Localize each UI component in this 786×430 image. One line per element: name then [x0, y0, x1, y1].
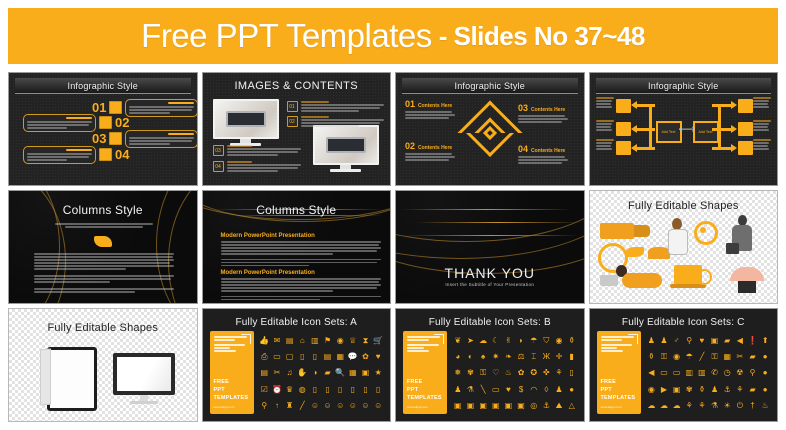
cloud-icon: ☁ — [647, 402, 655, 410]
exclamation-icon: ❗ — [748, 337, 758, 345]
monitor-icon — [99, 148, 112, 161]
header-banner: Free PPT Templates - Slides No 37~48 — [8, 8, 778, 64]
dot-icon: ● — [763, 369, 768, 377]
slide-9-canvas: Fully Editable Shapes — [9, 309, 197, 421]
drop-icon: ◗ — [519, 337, 524, 345]
usb-cap-icon — [634, 225, 650, 237]
gem-icon: ◊ — [544, 386, 548, 394]
wave-icon: ◠ — [530, 386, 537, 394]
sun-icon: ☀ — [724, 402, 731, 410]
person-icon: ♟ — [711, 386, 718, 394]
smiley-icon: ☺ — [349, 402, 357, 410]
slide-4-text-r3 — [753, 139, 771, 150]
slide-4-text-r1 — [753, 97, 771, 108]
flask-icon: ⚗ — [467, 386, 474, 394]
feather-icon: ➤ — [467, 337, 474, 345]
slide-1-item-02: 02 — [23, 114, 129, 132]
slide-8-canvas: Fully Editable Shapes — [590, 191, 778, 303]
dollar-icon: $ — [519, 386, 523, 394]
slide-thumbnail-12[interactable]: Fully Editable Icon Sets: C FREE PPT TEM… — [589, 308, 779, 422]
slide-3-title: Infographic Style — [455, 81, 525, 91]
slide-1-item-04: 04 — [23, 146, 129, 164]
slide-4-titlebar: Infographic Style — [596, 78, 772, 94]
pen-icon: ╱ — [300, 402, 305, 410]
battery-icon: ▭ — [660, 369, 668, 377]
slide-thumbnail-10[interactable]: Fully Editable Icon Sets: A FREE PPT TEM… — [202, 308, 392, 422]
card-icon: ╲ — [481, 386, 486, 394]
speech-bubble-icon: ▢ — [286, 353, 294, 361]
smiley-icon: ☺ — [311, 402, 319, 410]
pin-icon: ♟ — [454, 386, 461, 394]
gear-icon — [109, 132, 122, 145]
slide-3-item-03: 03 Contents Here — [518, 104, 570, 123]
award-icon: ♛ — [286, 386, 293, 394]
dagger-icon: † — [750, 402, 754, 410]
slide-3-canvas: Infographic Style 01 Contents Here — [396, 73, 584, 185]
lock-icon: ⚿ — [712, 353, 718, 361]
tree-icon: ⚘ — [555, 369, 562, 377]
slide-1-number-02: 02 — [115, 116, 129, 129]
desktop-monitor-mockup — [113, 353, 175, 404]
tag-icon: 03 — [213, 145, 224, 156]
paw-icon: ◐ — [468, 353, 473, 361]
slide-2-tag-03: 03 — [213, 145, 301, 156]
bird-icon: ✾ — [467, 369, 474, 377]
heart-icon: ♡ — [492, 369, 499, 377]
tablet-side-mockup — [40, 349, 51, 406]
slide-1-titlebar: Infographic Style — [15, 78, 191, 94]
star-icon: ★ — [375, 369, 382, 377]
megaphone-icon: ◀ — [737, 337, 743, 345]
hub-left-label: Add Text — [662, 130, 676, 135]
camera-icon: ▣ — [711, 337, 719, 345]
boar-icon: ▰ — [749, 386, 755, 394]
slide-6-heading-2: Modern PowerPoint Presentation — [221, 270, 381, 276]
window-icon: ▣ — [362, 369, 370, 377]
sun-icon: ✷ — [492, 353, 499, 361]
phone-icon: ✆ — [711, 369, 718, 377]
paint-drop-icon: ◍ — [299, 386, 306, 394]
eye-icon: ◉ — [556, 337, 563, 345]
laptop-icon: ▭ — [273, 353, 281, 361]
slide-3-number-04: 04 — [518, 145, 528, 154]
folder-icon — [99, 116, 112, 129]
image-icon: ▣ — [673, 386, 681, 394]
slide-4-text-l2 — [596, 120, 614, 131]
heart-icon: ▭ — [492, 386, 500, 394]
cursor-icon — [738, 141, 753, 155]
tablet-device-mockup — [47, 347, 97, 411]
chart-icon: ▥ — [311, 337, 319, 345]
hub-right-label: Add Text — [699, 130, 713, 135]
leaf-icon: ❦ — [454, 337, 461, 345]
dot-icon: ● — [569, 386, 574, 394]
anchor-icon: ⚓ — [543, 402, 550, 410]
smiley-icon: ☺ — [374, 402, 382, 410]
tablet-icon: ▯ — [300, 353, 304, 361]
balloon-icon: ◕ — [455, 353, 460, 361]
anchor-icon: ⚓ — [724, 386, 731, 394]
icon-grid-b: ❦ ➤ ☁ ☾ ✌ ◗ ☂ ⛉ ◉ ⚱ ◕ ◐ ♠ ✷ ❧ ⚖ ⌶ — [452, 333, 578, 414]
magnifier-icon — [696, 269, 712, 285]
smiley-icon: ☺ — [323, 402, 331, 410]
slide-3-label-04: Contents Here — [531, 148, 565, 154]
radiation-icon: ☢ — [736, 369, 743, 377]
slide-4-text-r2 — [753, 120, 771, 131]
diamond-maze-graphic — [457, 101, 522, 166]
person-body-icon — [668, 229, 688, 255]
slide-3-item-02: 02 Contents Here — [405, 142, 457, 161]
banner-subtitle: - Slides No 37~48 — [439, 21, 645, 52]
snowflake-icon: ❅ — [454, 369, 461, 377]
double-arrow-icon: ⟷ — [679, 122, 696, 136]
smiley-icon: ☺ — [336, 402, 344, 410]
tag-icon: 01 — [287, 101, 298, 112]
key-icon: ⚲ — [261, 402, 267, 410]
checkbox-icon: ☑ — [261, 386, 268, 394]
free-ppt-card-a: FREE PPT TEMPLATES www.allppt.com — [210, 331, 254, 414]
cart-icon — [616, 122, 631, 136]
search-icon: 🔍 — [335, 369, 345, 377]
spoon-icon: ⌶ — [531, 353, 536, 361]
slide-4-title: Infographic Style — [648, 81, 718, 91]
slide-8-title: Fully Editable Shapes — [590, 200, 778, 212]
triangle-icon: △ — [569, 402, 575, 410]
slide-1-item-03: 03 — [92, 130, 198, 148]
pencil-icon: ╱ — [700, 353, 705, 361]
slide-3-number-03: 03 — [518, 104, 528, 113]
document-icon: ▯ — [363, 386, 367, 394]
slide-6-section-2: Modern PowerPoint Presentation — [221, 270, 381, 300]
medal-icon: ✿ — [362, 353, 369, 361]
cloud-icon: ☁ — [673, 402, 681, 410]
person-icon: ♟ — [648, 337, 655, 345]
slide-thumbnail-11[interactable]: Fully Editable Icon Sets: B FREE PPT TEM… — [395, 308, 585, 422]
slide-3-label-01: Contents Here — [418, 103, 452, 109]
person-icon: ♟ — [660, 337, 667, 345]
lock-icon: ⚿ — [661, 353, 667, 361]
at-sign-icon: ◎ — [530, 402, 537, 410]
corner-decoration-icon — [434, 334, 444, 344]
slide-3-number-01: 01 — [405, 100, 415, 109]
slides-preview-page: Free PPT Templates - Slides No 37~48 Inf… — [0, 0, 786, 430]
lock-icon: ⚿ — [480, 369, 486, 377]
shield-icon: ⛉ — [543, 337, 549, 345]
slide-7-subtitle: Insert the Subtitle of Your Presentation — [396, 282, 584, 287]
slide-3-item-04: 04 Contents Here — [518, 145, 570, 164]
slide-thumbnail-2[interactable]: IMAGES & CONTENTS 01 02 — [202, 72, 392, 186]
shopping-cart-icon: 🛒 — [373, 337, 383, 345]
globe-icon: ◉ — [337, 337, 344, 345]
fire-icon: ♨ — [505, 369, 512, 377]
document-icon: ▯ — [376, 386, 380, 394]
document-icon: ▯ — [351, 386, 355, 394]
corner-decoration-icon — [241, 334, 251, 344]
card-title-b: FREE PPT TEMPLATES www.allppt.com — [407, 379, 443, 409]
plant-icon: ⚘ — [698, 402, 705, 410]
slide-thumbnail-1[interactable]: Infographic Style 01 03 — [8, 72, 198, 186]
handshake-arch-icon — [730, 267, 764, 281]
slide-4-canvas: Infographic Style Add Text Add Text ⟷ — [590, 73, 778, 185]
slide-9-title: Fully Editable Shapes — [9, 322, 197, 334]
gear-icon: ✿ — [518, 369, 525, 377]
target-dartboard-icon — [694, 221, 718, 245]
smiley-icon: ☺ — [361, 402, 369, 410]
hand-icon: ✋ — [297, 369, 307, 377]
cart-icon — [738, 122, 753, 136]
trophy-icon: ♕ — [349, 337, 356, 345]
person-icon: ↑ — [275, 402, 279, 410]
slide-thumbnail-9[interactable]: Fully Editable Shapes — [8, 308, 198, 422]
slide-1-number-03: 03 — [92, 132, 106, 145]
woman-body-icon — [622, 273, 662, 288]
thermometer-icon: ⚱ — [699, 386, 706, 394]
laptop-base-icon — [670, 284, 706, 288]
slide-12-canvas: Fully Editable Icon Sets: C FREE PPT TEM… — [590, 309, 778, 421]
slide-7-canvas: THANK YOU Insert the Subtitle of Your Pr… — [396, 191, 584, 303]
battery-icon: ▮ — [569, 353, 573, 361]
dot-icon: ● — [763, 386, 768, 394]
printer-icon: ⎙ — [261, 353, 267, 361]
slide-10-canvas: Fully Editable Icon Sets: A FREE PPT TEM… — [203, 309, 391, 421]
hourglass-icon: ⧗ — [363, 337, 369, 345]
slide-10-title: Fully Editable Icon Sets: A — [203, 317, 391, 328]
pinterest-icon: ▣ — [467, 402, 475, 410]
cup-icon: ♜ — [286, 402, 293, 410]
scale-icon: ⚖ — [517, 353, 524, 361]
document-icon: ▯ — [338, 386, 342, 394]
basketball-icon: ◉ — [673, 353, 680, 361]
film-icon: ▥ — [685, 369, 693, 377]
mountain-icon: ⛰ — [556, 402, 563, 410]
document-icon: ▯ — [325, 386, 329, 394]
icon-grid-a: 👍 ✉ ▤ ⌂ ▥ ⚑ ◉ ♕ ⧗ 🛒 ⎙ ▭ ▢ ▯ ▯ ▤ ▦ — [259, 333, 385, 414]
flask-icon: ⚗ — [711, 402, 718, 410]
slide-1-number-04: 04 — [115, 148, 129, 161]
icon-grid-c: ♟ ♟ ♂ ⚲ ♥ ▣ ▰ ◀ ❗ ⬆ ⚱ ⚿ ◉ ☂ ╱ ⚿ ▦ — [646, 333, 772, 414]
slide-1-text-01 — [125, 99, 197, 117]
tag-icon: 02 — [287, 116, 298, 127]
slide-3-item-01: 01 Contents Here — [405, 100, 457, 119]
heart-icon: ♥ — [700, 337, 705, 345]
plant-icon: ⚘ — [736, 386, 743, 394]
cursor-icon — [616, 141, 631, 155]
plant-icon: ⚘ — [686, 402, 693, 410]
book-icon: ▤ — [261, 369, 269, 377]
slide-5-body — [34, 253, 174, 293]
moon-icon: ☾ — [492, 337, 499, 345]
gear-icon: ✾ — [686, 386, 693, 394]
chat-icon — [109, 101, 122, 114]
compass-icon: ✛ — [556, 353, 563, 361]
leaf-icon — [616, 99, 631, 113]
slide-5-canvas: Columns Style — [9, 191, 197, 303]
paper-fold-icon — [648, 247, 670, 259]
hub-right: Add Text — [693, 121, 719, 143]
slide-1-text-03 — [125, 130, 197, 148]
slide-11-title: Fully Editable Icon Sets: B — [396, 317, 584, 328]
umbrella-icon: ☂ — [530, 337, 537, 345]
slide-1-text-04 — [23, 146, 96, 164]
instagram-icon: ▣ — [454, 402, 462, 410]
slide-4-text-l1 — [596, 97, 614, 108]
slide-3-label-03: Contents Here — [531, 107, 565, 113]
male-symbol-icon: ♂ — [674, 337, 680, 345]
volume-icon: ◀ — [648, 369, 654, 377]
target-center-icon — [700, 227, 706, 233]
video-icon: ▣ — [505, 402, 513, 410]
scissors-icon: ✂ — [737, 353, 744, 361]
hand-icon: ✌ — [505, 337, 512, 345]
banner-title: Free PPT Templates — [141, 17, 432, 55]
card-title-c: FREE PPT TEMPLATES www.allppt.com — [601, 379, 637, 409]
grid-icon: ▦ — [349, 369, 357, 377]
slide-6-heading-1: Modern PowerPoint Presentation — [221, 233, 381, 239]
record-icon: ◉ — [648, 386, 655, 394]
slide-4-text-l3 — [596, 139, 614, 150]
cloud-icon: ☁ — [660, 402, 668, 410]
free-ppt-card-b: FREE PPT TEMPLATES www.allppt.com — [403, 331, 447, 414]
video-play-icon: ▶ — [661, 386, 667, 394]
slide-thumbnail-4[interactable]: Infographic Style Add Text Add Text ⟷ — [589, 72, 779, 186]
barcode-icon: ▥ — [698, 369, 706, 377]
slide-thumbnail-8[interactable]: Fully Editable Shapes — [589, 190, 779, 304]
briefcase-icon — [726, 243, 739, 254]
music-note-icon: ♫ — [287, 369, 293, 377]
phone-icon: ▯ — [313, 353, 317, 361]
messenger-icon: ▣ — [517, 402, 525, 410]
slide-5-subtitle — [55, 223, 153, 228]
facebook-icon: ▣ — [479, 402, 487, 410]
monitor-mockup-right — [313, 125, 379, 172]
battery-icon: ▭ — [673, 369, 681, 377]
slide-thumbnail-5[interactable]: Columns Style — [8, 190, 198, 304]
thumbs-up-icon: 👍 — [259, 337, 269, 345]
bell-icon: ▯ — [569, 369, 573, 377]
chat-icon: 💬 — [348, 353, 358, 361]
slide-3-titlebar: Infographic Style — [402, 78, 578, 94]
home-icon: ⌂ — [300, 337, 305, 345]
briefcase-icon: ▤ — [286, 337, 294, 345]
slide-2-tag-01: 01 — [287, 101, 384, 112]
slide-1-title: Infographic Style — [68, 81, 138, 91]
monitor-mockup-left — [213, 99, 279, 146]
slide-6-title: Columns Style — [203, 203, 391, 217]
alarm-clock-icon: ⏰ — [272, 386, 282, 394]
power-icon: ⏻ — [737, 402, 743, 410]
fire-icon: ♨ — [762, 402, 769, 410]
slide-1-canvas: Infographic Style 01 03 — [9, 73, 197, 185]
thermometer-icon: ⚱ — [568, 337, 575, 345]
slide-6-section-1: Modern PowerPoint Presentation — [221, 233, 381, 266]
slide-thumbnail-6[interactable]: Columns Style Modern PowerPoint Presenta… — [202, 190, 392, 304]
location-icon: ⚲ — [750, 369, 756, 377]
slides-grid: Infographic Style 01 03 — [8, 72, 778, 422]
clock-icon: ◷ — [724, 369, 731, 377]
person-legs-icon — [738, 281, 756, 293]
slide-2-canvas: IMAGES & CONTENTS 01 02 — [203, 73, 391, 185]
slide-1-number-01: 01 — [92, 101, 106, 114]
slide-2-tag-04: 04 — [213, 161, 301, 172]
leaf-icon — [738, 99, 753, 113]
flag-icon: ⚑ — [324, 337, 331, 345]
slide-11-canvas: Fully Editable Icon Sets: B FREE PPT TEM… — [396, 309, 584, 421]
umbrella-icon: ☂ — [686, 353, 693, 361]
rocket-icon: ⬆ — [762, 337, 769, 345]
building-icon: ▦ — [723, 353, 731, 361]
slide-3-number-02: 02 — [405, 142, 415, 151]
slide-1-text-02 — [23, 114, 96, 132]
tag-icon: 04 — [213, 161, 224, 172]
card-title-a: FREE PPT TEMPLATES www.allppt.com — [214, 379, 250, 409]
leaf-icon: ❧ — [505, 353, 512, 361]
person-icon: ♟ — [555, 386, 562, 394]
document-icon: ▯ — [313, 386, 317, 394]
rocket-icon: ⚱ — [648, 353, 655, 361]
free-ppt-card-c: FREE PPT TEMPLATES www.allppt.com — [597, 331, 641, 414]
twitter-icon: ▣ — [492, 402, 500, 410]
cloud-icon: ☁ — [479, 337, 487, 345]
capsule-icon: ✜ — [543, 369, 550, 377]
laptop-icon — [600, 275, 618, 286]
slide-3-label-02: Contents Here — [418, 145, 452, 151]
slide-2-title: IMAGES & CONTENTS — [203, 80, 391, 92]
envelope-icon: ✉ — [274, 337, 281, 345]
palette-icon: ◑ — [312, 369, 317, 377]
lightbulb-icon: ♠ — [481, 353, 485, 361]
slide-2-tag-02: 02 — [287, 116, 384, 127]
butterfly-icon: Ж — [543, 353, 550, 361]
heart-icon: ♥ — [376, 353, 381, 361]
corner-decoration-icon — [628, 334, 638, 344]
diamond-icon: ♥ — [506, 386, 511, 394]
layers-icon: ▰ — [324, 369, 330, 377]
shoe-icon — [94, 236, 112, 247]
slide-7-title: THANK YOU — [396, 265, 584, 281]
atom-icon: ✪ — [530, 369, 537, 377]
slide-12-title: Fully Editable Icon Sets: C — [590, 317, 778, 328]
bag-icon: ▰ — [724, 337, 730, 345]
usb-flash-drive-icon — [600, 223, 634, 239]
slide-5-title: Columns Style — [9, 203, 197, 217]
tools-icon: ✂ — [274, 369, 281, 377]
battery-icon: ▤ — [324, 353, 332, 361]
magnifier-icon: ⚲ — [686, 337, 692, 345]
paper-plane-icon — [626, 247, 644, 257]
slide-6-canvas: Columns Style Modern PowerPoint Presenta… — [203, 191, 391, 303]
calendar-icon: ▦ — [336, 353, 344, 361]
dot-icon: ● — [763, 353, 768, 361]
car-icon: ▰ — [749, 353, 755, 361]
slide-thumbnail-7[interactable]: THANK YOU Insert the Subtitle of Your Pr… — [395, 190, 585, 304]
slide-thumbnail-3[interactable]: Infographic Style 01 Contents Here — [395, 72, 585, 186]
